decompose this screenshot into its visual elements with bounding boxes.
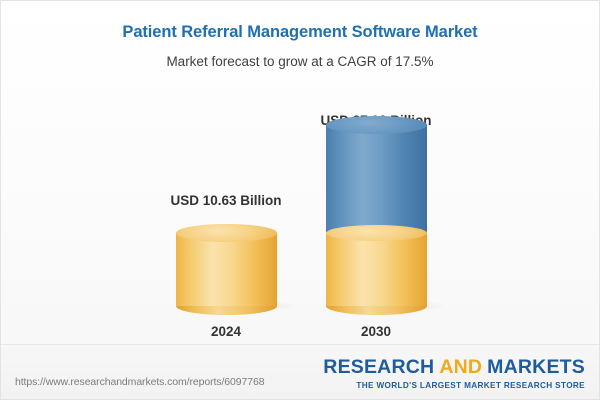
logo-wordmark: RESEARCHANDMARKETS [323, 358, 585, 378]
bar-segment-upper-2030 [326, 125, 427, 233]
logo-word-and: AND [439, 356, 482, 378]
category-label-2030: 2030 [301, 324, 451, 339]
bar-cylinder-2030[interactable] [326, 125, 427, 306]
chart-subtitle: Market forecast to grow at a CAGR of 17.… [1, 54, 599, 69]
bar-body-yellow [326, 233, 427, 306]
bar-value-label-2024: USD 10.63 Billion [151, 193, 301, 208]
bar-segment-base-2030 [326, 233, 427, 306]
bar-group-2030[interactable]: USD 27.98 Billion 2030 [301, 86, 451, 341]
logo-word-markets: MARKETS [487, 356, 585, 378]
chart-card: Patient Referral Management Software Mar… [0, 0, 600, 400]
bar-top-cap [326, 116, 427, 134]
logo-tagline: THE WORLD'S LARGEST MARKET RESEARCH STOR… [323, 382, 585, 390]
bar-body-yellow [176, 233, 277, 306]
report-url-link[interactable]: https://www.researchandmarkets.com/repor… [15, 376, 264, 388]
page-title: Patient Referral Management Software Mar… [1, 23, 599, 42]
logo-word-research: RESEARCH [323, 356, 434, 378]
chart-plot-area: USD 10.63 Billion 2024 USD 27.98 Billion [1, 86, 600, 341]
bar-group-2024[interactable]: USD 10.63 Billion 2024 [151, 86, 301, 341]
bar-cylinder-2024[interactable] [176, 233, 277, 306]
brand-logo[interactable]: RESEARCHANDMARKETS THE WORLD'S LARGEST M… [323, 358, 585, 390]
category-label-2024: 2024 [151, 324, 301, 339]
bar-segment-seam [326, 225, 427, 241]
bar-body-blue [326, 125, 427, 233]
footer-divider [1, 344, 599, 345]
bar-top-cap [176, 224, 277, 242]
